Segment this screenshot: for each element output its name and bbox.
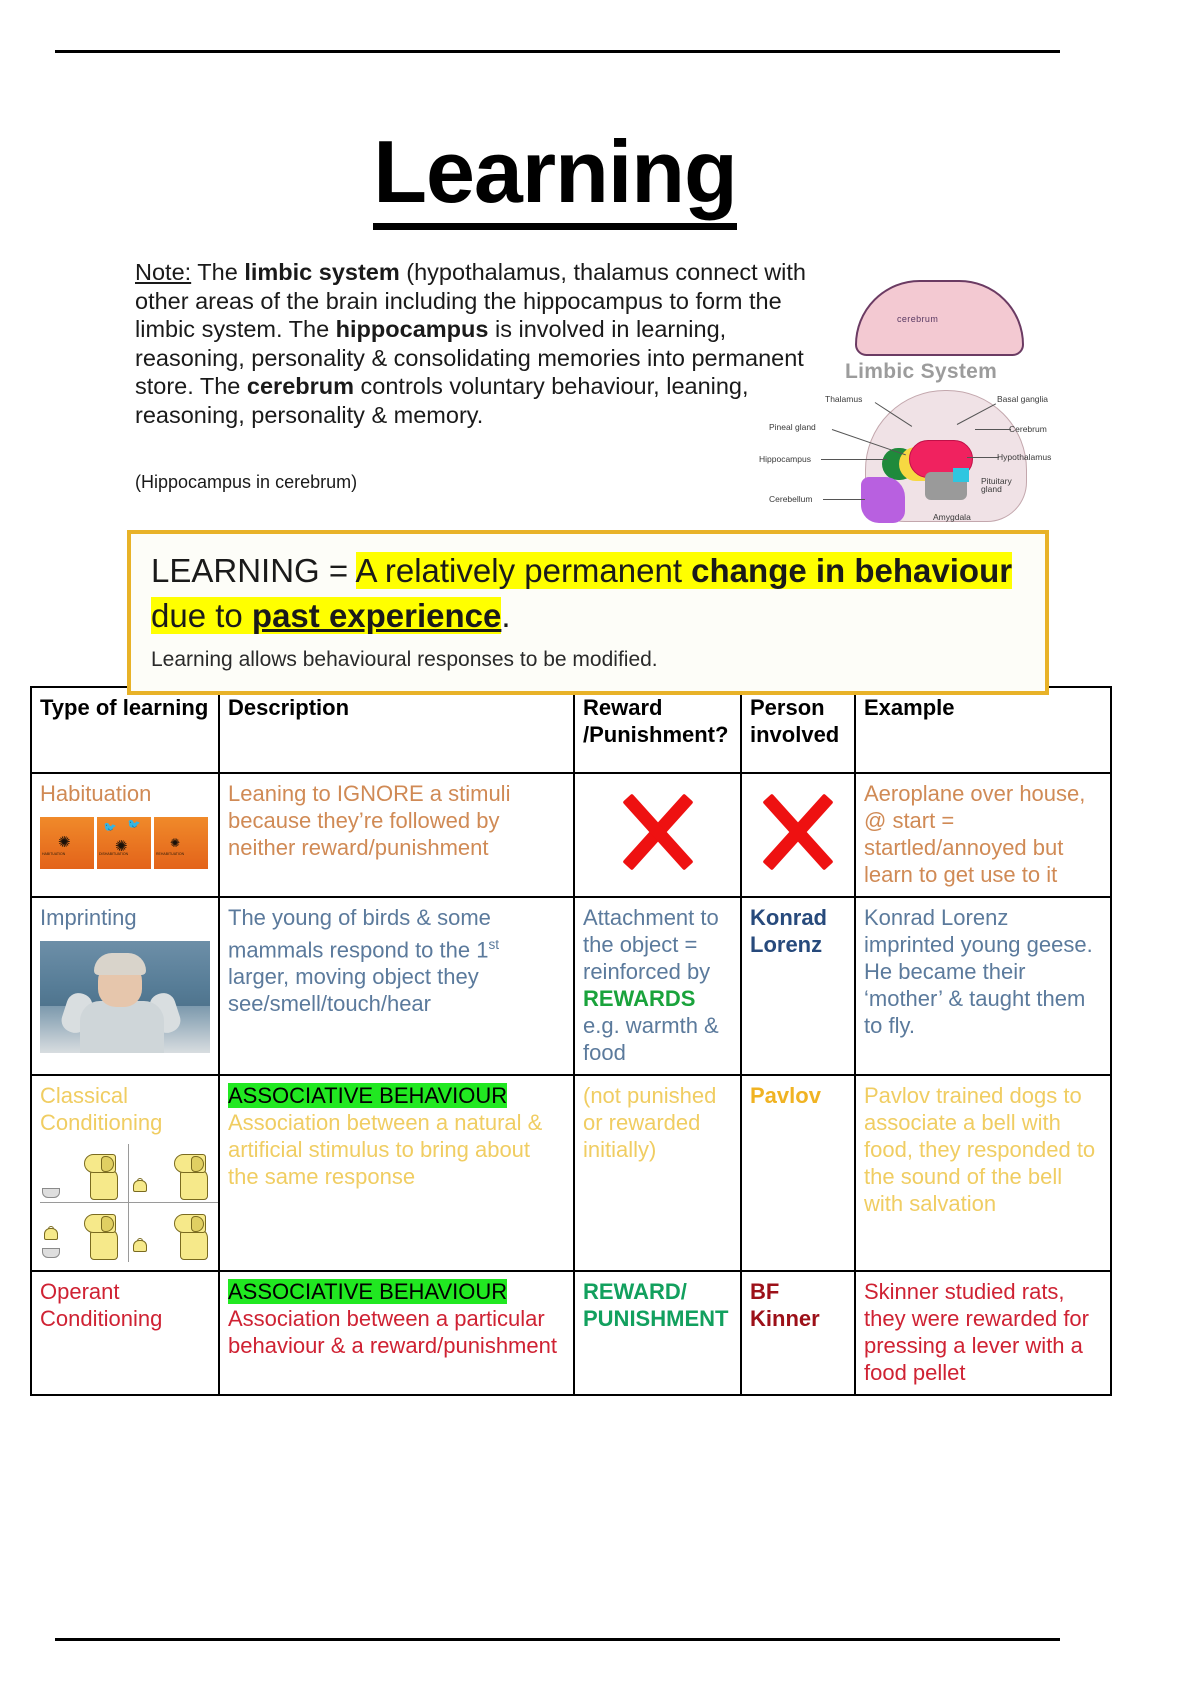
definition-highlight-part-3: due to xyxy=(151,597,252,634)
cell-reward-operant-conditioning: REWARD/ PUNISHMENT xyxy=(574,1271,741,1395)
cell-example-classical-conditioning: Pavlov trained dogs to associate a bell … xyxy=(855,1075,1111,1271)
figure-title: Limbic System xyxy=(845,360,997,384)
definition-highlight-part-1: A relatively permanent xyxy=(356,552,692,589)
bell-icon xyxy=(44,1226,56,1240)
bell-body-shape xyxy=(44,1228,58,1240)
bell-icon xyxy=(133,1178,145,1192)
cell-person-habituation xyxy=(741,773,855,897)
konrad-lorenz-thumbnail-image xyxy=(40,941,210,1053)
cell-type-habituation: Habituation ✺ HABITUATION 🐦 🐦 ✺ DISHABIT… xyxy=(31,773,219,897)
definition-period: . xyxy=(501,597,510,634)
cell-type-classical-conditioning: Classical Conditioning xyxy=(31,1075,219,1271)
note-label: Note: xyxy=(135,259,191,285)
cell-reward-classical-conditioning: (not punished or rewarded initially) xyxy=(574,1075,741,1271)
habituation-thumb-panel-2: 🐦 🐦 ✺ DISHABITUATION xyxy=(97,817,151,869)
table-header-row: Type of learning Description Reward /Pun… xyxy=(31,687,1111,773)
definition-subtext: Learning allows behavioural responses to… xyxy=(151,648,1025,672)
learning-definition-box: LEARNING = A relatively permanent change… xyxy=(127,530,1049,695)
type-label-imprinting: Imprinting xyxy=(40,904,210,931)
cell-example-operant-conditioning: Skinner studied rats, they were rewarded… xyxy=(855,1271,1111,1395)
description-text-a: The young of birds & some mammals respon… xyxy=(228,905,491,962)
dog-icon xyxy=(82,1214,122,1258)
bell-icon xyxy=(133,1238,145,1252)
definition-line: LEARNING = A relatively permanent change… xyxy=(151,548,1025,638)
bird-icon: 🐦 xyxy=(127,820,141,831)
habituation-thumb-caption-3: REHABITUATION xyxy=(156,841,184,868)
cell-person-operant-conditioning: BF Kinner xyxy=(741,1271,855,1395)
figure-label-cerebellum: Cerebellum xyxy=(769,494,812,504)
figure-label-amygdala: Amygdala xyxy=(933,512,971,522)
highlight-associative-behaviour: ASSOCIATIVE BEHAVIOUR xyxy=(228,1279,507,1304)
description-superscript: st xyxy=(488,937,499,952)
document-page: Learning Note: The limbic system (hypoth… xyxy=(0,0,1200,1700)
hypothalamus-region-icon xyxy=(953,468,969,482)
learning-types-table: Type of learning Description Reward /Pun… xyxy=(30,686,1112,1396)
red-x-icon xyxy=(752,786,844,878)
food-bowl-icon xyxy=(42,1248,60,1258)
reward-text-a: Attachment to the object = reinforced by xyxy=(583,905,719,984)
note-bold-limbic-system: limbic system xyxy=(244,259,399,285)
habituation-thumb-caption-1: HABITUATION xyxy=(42,841,65,868)
pavlov-quadrant-4 xyxy=(129,1203,218,1262)
figure-label-cerebrum: Cerebrum xyxy=(1009,424,1047,434)
table-row: Operant Conditioning ASSOCIATIVE BEHAVIO… xyxy=(31,1271,1111,1395)
reward-bold-rewards: REWARDS xyxy=(583,986,695,1011)
dog-icon xyxy=(172,1154,212,1198)
red-x-icon xyxy=(612,786,704,878)
description-rest: Association between a particular behavio… xyxy=(228,1306,557,1358)
type-label-classical-conditioning: Classical Conditioning xyxy=(40,1082,210,1136)
column-header-reward-punishment: Reward /Punishment? xyxy=(574,687,741,773)
column-header-person-involved: Person involved xyxy=(741,687,855,773)
figure-label-basal-ganglia: Basal ganglia xyxy=(997,394,1048,404)
definition-lead: LEARNING = xyxy=(151,552,356,589)
cell-person-imprinting: Konrad Lorenz xyxy=(741,897,855,1075)
table-row: Habituation ✺ HABITUATION 🐦 🐦 ✺ DISHABIT… xyxy=(31,773,1111,897)
page-title-text: Learning xyxy=(373,122,737,230)
habituation-thumbnail-image: ✺ HABITUATION 🐦 🐦 ✺ DISHABITUATION ✺ REH… xyxy=(40,817,208,869)
note-bold-cerebrum: cerebrum xyxy=(247,373,354,399)
cell-type-imprinting: Imprinting xyxy=(31,897,219,1075)
habituation-thumb-caption-2: DISHABITUATION xyxy=(99,841,128,868)
person-label-konrad-lorenz: Konrad Lorenz xyxy=(750,905,827,957)
reward-text-b: e.g. warmth & food xyxy=(583,1013,719,1065)
leader-line-cerebrum xyxy=(975,429,1011,430)
cell-example-imprinting: Konrad Lorenz imprinted young geese. He … xyxy=(855,897,1111,1075)
pavlov-dog-thumbnail-image xyxy=(40,1144,218,1262)
note-bold-hippocampus: hippocampus xyxy=(336,316,489,342)
pavlov-quadrant-2 xyxy=(129,1144,218,1203)
food-bowl-icon xyxy=(42,1188,60,1198)
hair-shape xyxy=(94,953,146,975)
description-text-b: larger, moving object they see/smell/tou… xyxy=(228,964,479,1016)
page-title: Learning xyxy=(0,128,1110,216)
figure-label-pituitary-gland: Pituitary gland xyxy=(981,477,1023,493)
figure-label-thalamus: Thalamus xyxy=(825,394,862,404)
figure-label-pineal-gland: Pineal gland xyxy=(769,422,816,432)
body-shape xyxy=(80,1001,164,1053)
cell-description-operant-conditioning: ASSOCIATIVE BEHAVIOURAssociation between… xyxy=(219,1271,574,1395)
reward-label-reward-punishment: REWARD/ PUNISHMENT xyxy=(583,1279,728,1331)
note-subtext: (Hippocampus in cerebrum) xyxy=(135,472,357,493)
person-label-bf-kinner: BF Kinner xyxy=(750,1279,820,1331)
bell-body-shape xyxy=(133,1240,147,1252)
figure-label-hypothalamus: Hypothalamus xyxy=(997,452,1051,462)
highlight-associative-behaviour: ASSOCIATIVE BEHAVIOUR xyxy=(228,1083,507,1108)
pavlov-quadrant-3 xyxy=(40,1203,129,1262)
cell-description-imprinting: The young of birds & some mammals respon… xyxy=(219,897,574,1075)
pavlov-quadrant-1 xyxy=(40,1144,129,1203)
leader-line-hippocampus xyxy=(821,459,887,460)
habituation-thumb-panel-1: ✺ HABITUATION xyxy=(40,817,94,869)
description-rest: Association between a natural & artifici… xyxy=(228,1110,542,1189)
leader-line-cerebellum xyxy=(823,499,865,500)
type-label-habituation: Habituation xyxy=(40,780,210,807)
bottom-rule xyxy=(55,1638,1060,1641)
leader-line-hypothalamus xyxy=(967,457,999,458)
definition-highlight-bold-change-in-behaviour: change in behaviour xyxy=(691,552,1012,589)
cerebrum-shape-label: cerebrum xyxy=(897,314,938,324)
dog-icon xyxy=(82,1154,122,1198)
cerebellum-region-icon xyxy=(861,477,905,523)
column-header-description: Description xyxy=(219,687,574,773)
table-row: Classical Conditioning xyxy=(31,1075,1111,1271)
habituation-thumb-panel-3: ✺ REHABITUATION xyxy=(154,817,208,869)
bird-icon: 🐦 xyxy=(103,823,117,834)
cell-person-classical-conditioning: Pavlov xyxy=(741,1075,855,1271)
cell-type-operant-conditioning: Operant Conditioning xyxy=(31,1271,219,1395)
cell-reward-habituation xyxy=(574,773,741,897)
note-text-1: The xyxy=(191,259,244,285)
cerebrum-shape-icon xyxy=(855,280,1024,356)
person-label-pavlov: Pavlov xyxy=(750,1083,821,1108)
column-header-example: Example xyxy=(855,687,1111,773)
cell-description-habituation: Leaning to IGNORE a stimuli because they… xyxy=(219,773,574,897)
cell-reward-imprinting: Attachment to the object = reinforced by… xyxy=(574,897,741,1075)
cell-example-habituation: Aeroplane over house, @ start = startled… xyxy=(855,773,1111,897)
figure-label-hippocampus: Hippocampus xyxy=(759,454,811,464)
top-rule xyxy=(55,50,1060,53)
limbic-system-figure: cerebrum Limbic System Thalamus Pineal g… xyxy=(757,272,1067,527)
definition-highlight-bold-past-experience: past experience xyxy=(252,597,501,634)
column-header-type-of-learning: Type of learning xyxy=(31,687,219,773)
bell-body-shape xyxy=(133,1180,147,1192)
cell-description-classical-conditioning: ASSOCIATIVE BEHAVIOURAssociation between… xyxy=(219,1075,574,1271)
note-paragraph: Note: The limbic system (hypothalamus, t… xyxy=(135,258,825,429)
dog-icon xyxy=(172,1214,212,1258)
table-row: Imprinting The young of birds & some mam… xyxy=(31,897,1111,1075)
